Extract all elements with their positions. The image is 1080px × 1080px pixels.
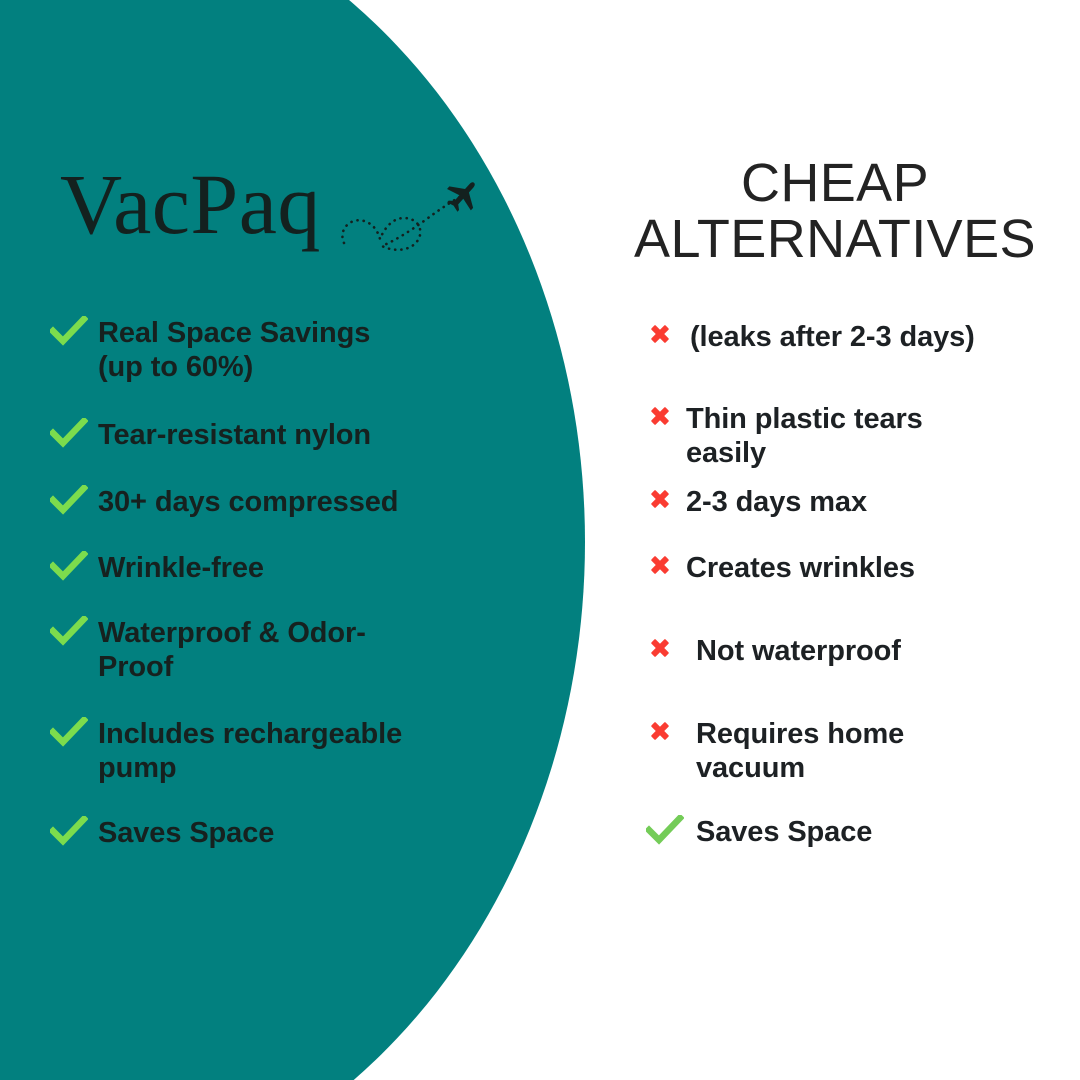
brand-wordmark: VacPaq [60, 152, 321, 256]
list-item: Tear-resistant nylon [50, 418, 371, 452]
list-item-label: Includes rechargeable pump [98, 717, 402, 785]
cross-icon [646, 485, 686, 513]
cross-icon [646, 717, 696, 745]
cross-icon [646, 634, 696, 662]
list-item-label: 30+ days compressed [98, 485, 398, 519]
heart-flight-path-icon [336, 160, 496, 260]
brand-logo: VacPaq [60, 152, 500, 262]
check-icon [50, 616, 98, 646]
check-icon [50, 316, 98, 346]
list-item: Not waterproof [646, 634, 901, 668]
list-item: Wrinkle-free [50, 551, 264, 585]
list-item-label: Thin plastic tears easily [686, 402, 923, 470]
cross-icon [646, 320, 690, 348]
check-icon [50, 551, 98, 581]
check-icon [50, 418, 98, 448]
cross-icon [646, 402, 686, 430]
list-item-label: Waterproof & Odor- Proof [98, 616, 366, 684]
list-item: Waterproof & Odor- Proof [50, 616, 366, 684]
list-item-label: Saves Space [696, 815, 872, 849]
page-title-line-2: ALTERNATIVES [590, 211, 1080, 267]
list-item: (leaks after 2-3 days) [646, 320, 975, 354]
page-title-line-1: CHEAP [590, 155, 1080, 211]
list-item: Real Space Savings (up to 60%) [50, 316, 370, 384]
list-item-label: Saves Space [98, 816, 274, 850]
list-item: Includes rechargeable pump [50, 717, 402, 785]
list-item-label: 2-3 days max [686, 485, 867, 519]
list-item: Creates wrinkles [646, 551, 915, 585]
list-item-label: Tear-resistant nylon [98, 418, 371, 452]
list-item: Requires home vacuum [646, 717, 904, 785]
check-icon [646, 815, 696, 845]
right-column-cheap-alternatives: CHEAP ALTERNATIVES (leaks after 2-3 days… [590, 0, 1080, 1080]
list-item: Saves Space [646, 815, 872, 849]
list-item-label: Creates wrinkles [686, 551, 915, 585]
cross-icon [646, 551, 686, 579]
list-item-label: (leaks after 2-3 days) [690, 320, 975, 354]
left-column-vacpaq: VacPaq Real Space Savings (up to 60%) [0, 0, 590, 1080]
list-item-label: Wrinkle-free [98, 551, 264, 585]
page-title: CHEAP ALTERNATIVES [590, 155, 1080, 267]
list-item: 30+ days compressed [50, 485, 398, 519]
list-item: Saves Space [50, 816, 274, 850]
list-item-label: Not waterproof [696, 634, 901, 668]
list-item: Thin plastic tears easily [646, 402, 923, 470]
infographic-canvas: VacPaq Real Space Savings (up to 60%) [0, 0, 1080, 1080]
list-item: 2-3 days max [646, 485, 867, 519]
check-icon [50, 485, 98, 515]
list-item-label: Real Space Savings (up to 60%) [98, 316, 370, 384]
check-icon [50, 717, 98, 747]
check-icon [50, 816, 98, 846]
list-item-label: Requires home vacuum [696, 717, 904, 785]
